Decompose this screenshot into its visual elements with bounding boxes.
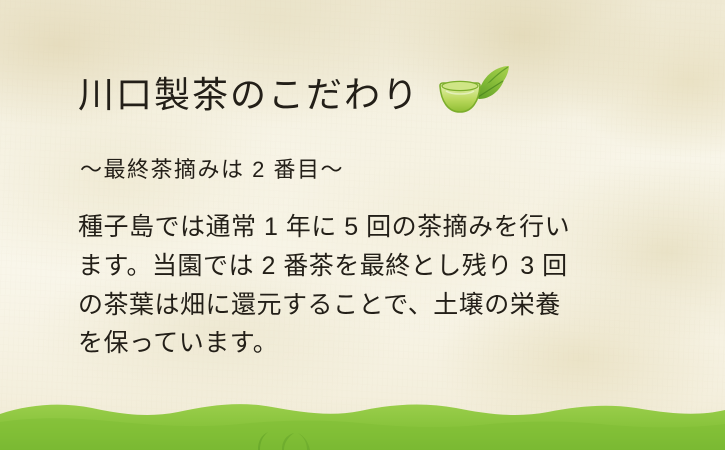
- page-title-row: 川口製茶のこだわり: [78, 64, 510, 125]
- body-line: を保っています。: [78, 324, 648, 363]
- page-title: 川口製茶のこだわり: [78, 75, 420, 115]
- page-root: 川口製茶のこだわり: [0, 0, 725, 450]
- body-line: の茶葉は畑に還元することで、土壌の栄養: [78, 286, 648, 325]
- page-subtitle: 〜最終茶摘みは 2 番目〜: [80, 152, 344, 184]
- tea-cup-leaf-icon: [436, 64, 510, 125]
- content-layer: 川口製茶のこだわり: [0, 0, 725, 450]
- body-text: 種子島では通常 1 年に 5 回の茶摘みを行い ます。当園では 2 番茶を最終と…: [78, 208, 648, 363]
- body-line: 種子島では通常 1 年に 5 回の茶摘みを行い: [78, 208, 648, 247]
- body-line: ます。当園では 2 番茶を最終とし残り 3 回: [78, 247, 648, 286]
